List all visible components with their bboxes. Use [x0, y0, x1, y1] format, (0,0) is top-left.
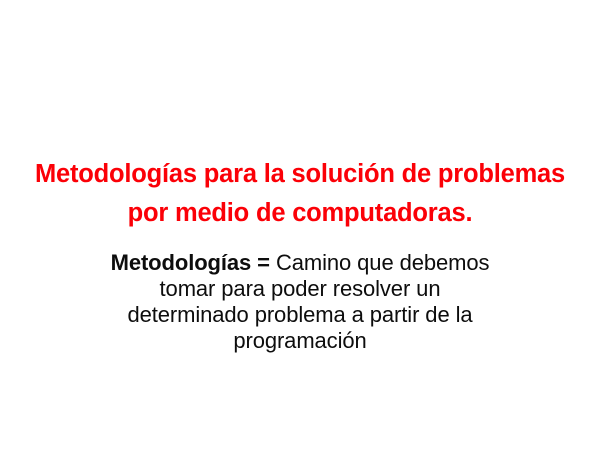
body-line-2: tomar para poder resolver un — [0, 276, 600, 302]
body-line-1: Metodologías = Camino que debemos — [0, 250, 600, 276]
slide-body: Metodologías = Camino que debemos tomar … — [0, 250, 600, 354]
body-line-1-text: Camino que debemos — [270, 250, 489, 275]
title-line-1: Metodologías para la solución de problem… — [0, 155, 600, 194]
slide-title: Metodologías para la solución de problem… — [0, 155, 600, 233]
body-line-3: determinado problema a partir de la — [0, 302, 600, 328]
body-line-4: programación — [0, 328, 600, 354]
definition-term: Metodologías = — [111, 250, 270, 275]
slide-canvas: Metodologías para la solución de problem… — [0, 0, 600, 450]
title-line-2: por medio de computadoras. — [0, 194, 600, 233]
